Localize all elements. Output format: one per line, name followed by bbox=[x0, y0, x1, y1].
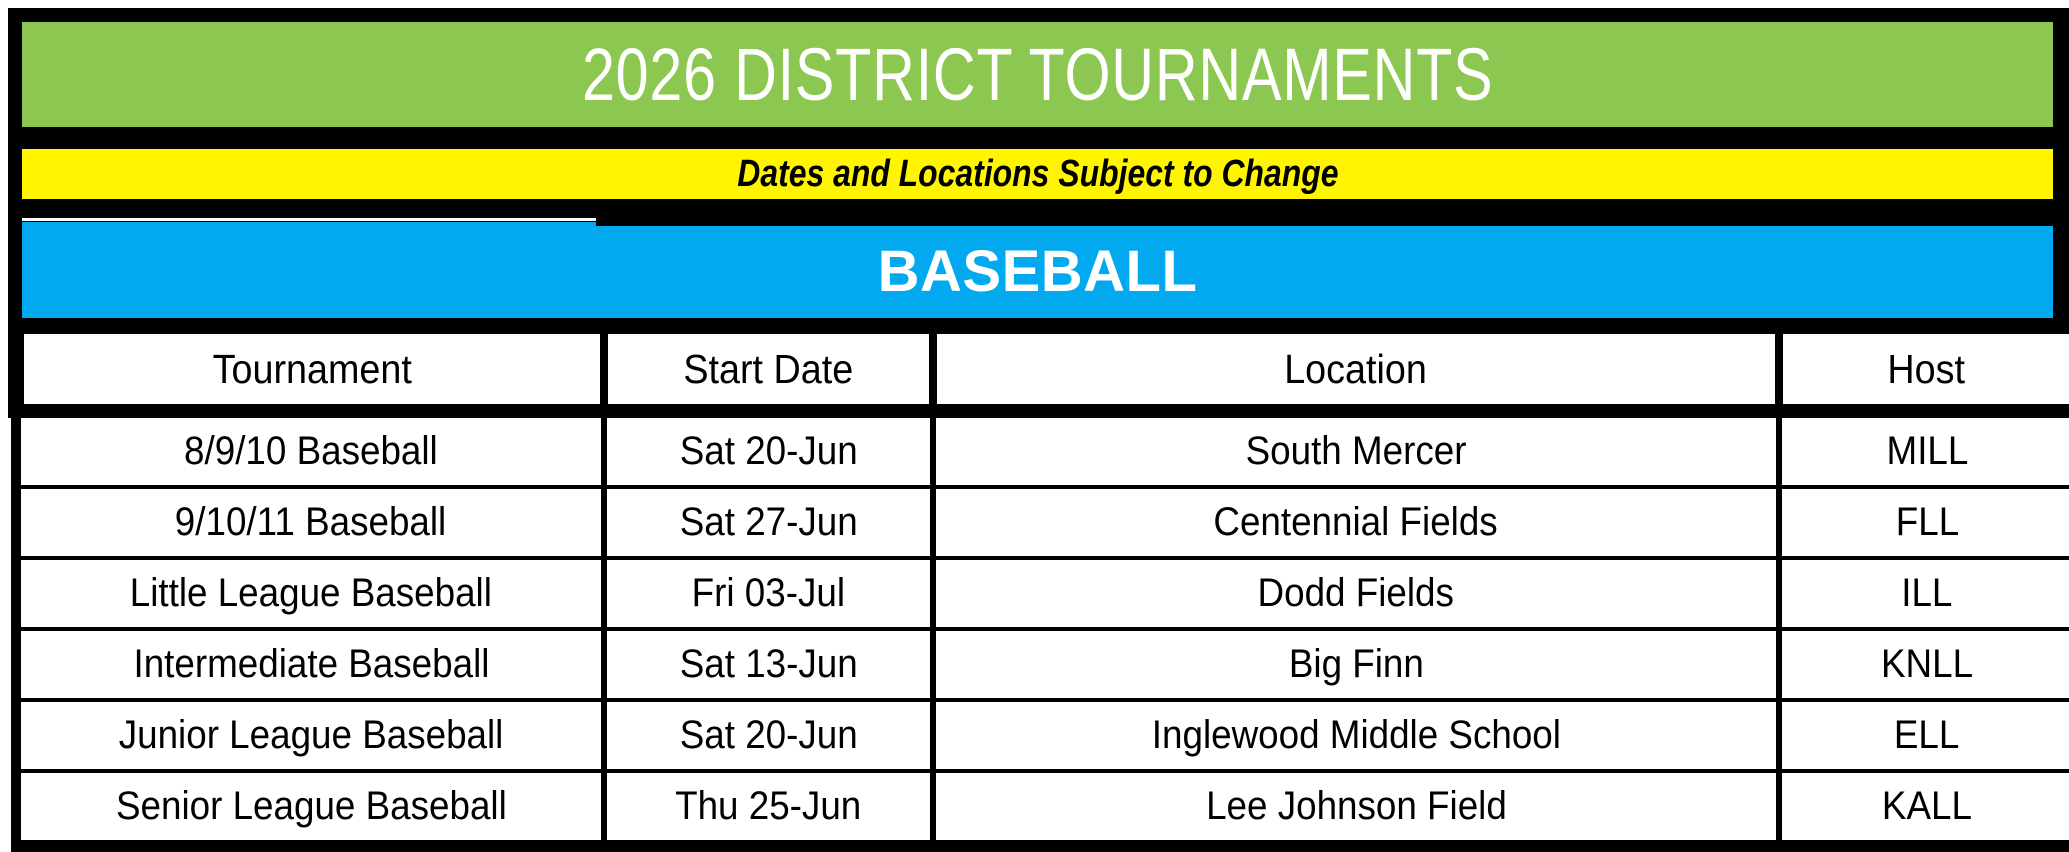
title-banner: 2026 DISTRICT TOURNAMENTS bbox=[22, 22, 2053, 127]
cell-start-date: Sat 20-Jun bbox=[604, 411, 933, 487]
banner-frame: 2026 DISTRICT TOURNAMENTS Dates and Loca… bbox=[8, 8, 2069, 326]
cell-tournament: Intermediate Baseball bbox=[16, 629, 604, 700]
tournament-schedule-table: Tournament Start Date Location Host 8/9/… bbox=[8, 326, 2069, 852]
table-header-row: Tournament Start Date Location Host bbox=[16, 330, 2069, 411]
cell-start-date: Sat 20-Jun bbox=[604, 700, 933, 771]
table-row: 8/9/10 Baseball Sat 20-Jun South Mercer … bbox=[16, 411, 2069, 487]
cell-host: KNLL bbox=[1779, 629, 2069, 700]
cell-host: ELL bbox=[1779, 700, 2069, 771]
cell-host: FLL bbox=[1779, 487, 2069, 558]
cell-start-date: Sat 27-Jun bbox=[604, 487, 933, 558]
table-row: Senior League Baseball Thu 25-Jun Lee Jo… bbox=[16, 771, 2069, 846]
poster-title: 2026 DISTRICT TOURNAMENTS bbox=[582, 38, 1494, 112]
table-row: 9/10/11 Baseball Sat 27-Jun Centennial F… bbox=[16, 487, 2069, 558]
cell-host: ILL bbox=[1779, 558, 2069, 629]
cell-tournament: Little League Baseball bbox=[16, 558, 604, 629]
table-row: Intermediate Baseball Sat 13-Jun Big Fin… bbox=[16, 629, 2069, 700]
sport-name: BASEBALL bbox=[878, 243, 1198, 301]
cell-location: Lee Johnson Field bbox=[933, 771, 1779, 846]
cell-host: KALL bbox=[1779, 771, 2069, 846]
cell-location: Centennial Fields bbox=[933, 487, 1779, 558]
table-row: Little League Baseball Fri 03-Jul Dodd F… bbox=[16, 558, 2069, 629]
cell-location: Dodd Fields bbox=[933, 558, 1779, 629]
column-header-location: Location bbox=[933, 330, 1779, 411]
cell-host: MILL bbox=[1779, 411, 2069, 487]
cell-start-date: Thu 25-Jun bbox=[604, 771, 933, 846]
table-row: Junior League Baseball Sat 20-Jun Inglew… bbox=[16, 700, 2069, 771]
cell-location: South Mercer bbox=[933, 411, 1779, 487]
cell-tournament: 9/10/11 Baseball bbox=[16, 487, 604, 558]
cell-tournament: Senior League Baseball bbox=[16, 771, 604, 846]
sport-banner: BASEBALL bbox=[22, 226, 2053, 318]
subtitle-banner: Dates and Locations Subject to Change bbox=[22, 149, 2053, 199]
column-header-start-date: Start Date bbox=[604, 330, 933, 411]
cell-tournament: Junior League Baseball bbox=[16, 700, 604, 771]
column-header-tournament: Tournament bbox=[16, 330, 604, 411]
cell-location: Big Finn bbox=[933, 629, 1779, 700]
poster-subtitle: Dates and Locations Subject to Change bbox=[737, 155, 1338, 193]
cell-tournament: 8/9/10 Baseball bbox=[16, 411, 604, 487]
cell-start-date: Fri 03-Jul bbox=[604, 558, 933, 629]
cell-location: Inglewood Middle School bbox=[933, 700, 1779, 771]
cell-start-date: Sat 13-Jun bbox=[604, 629, 933, 700]
column-header-host: Host bbox=[1779, 330, 2069, 411]
sport-banner-hairline bbox=[22, 218, 596, 221]
tournament-schedule-poster: 2026 DISTRICT TOURNAMENTS Dates and Loca… bbox=[8, 8, 2069, 815]
